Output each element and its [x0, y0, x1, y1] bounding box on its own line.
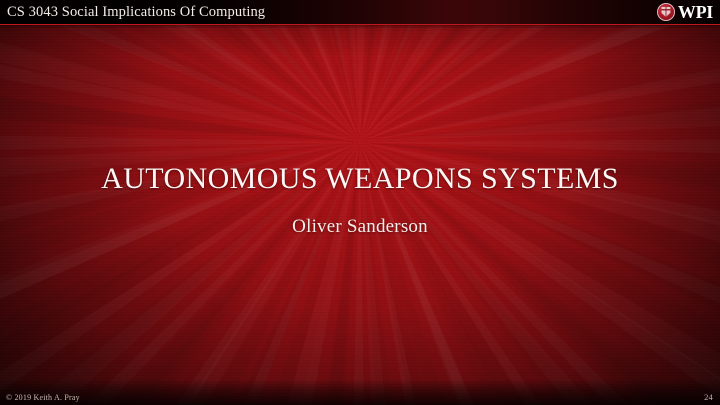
wpi-brand-text: WPI	[678, 3, 713, 21]
slide-header-bar: CS 3043 Social Implications Of Computing…	[0, 0, 720, 24]
wpi-brand-logo: WPI	[657, 3, 713, 21]
wpi-seal-icon	[657, 3, 675, 21]
slide-title: AUTONOMOUS WEAPONS SYSTEMS	[0, 162, 720, 195]
course-title: CS 3043 Social Implications Of Computing	[7, 4, 265, 21]
slide-subtitle-presenter: Oliver Sanderson	[0, 216, 720, 238]
slide-content: AUTONOMOUS WEAPONS SYSTEMS Oliver Sander…	[0, 24, 720, 381]
presentation-slide: CS 3043 Social Implications Of Computing…	[0, 0, 720, 405]
